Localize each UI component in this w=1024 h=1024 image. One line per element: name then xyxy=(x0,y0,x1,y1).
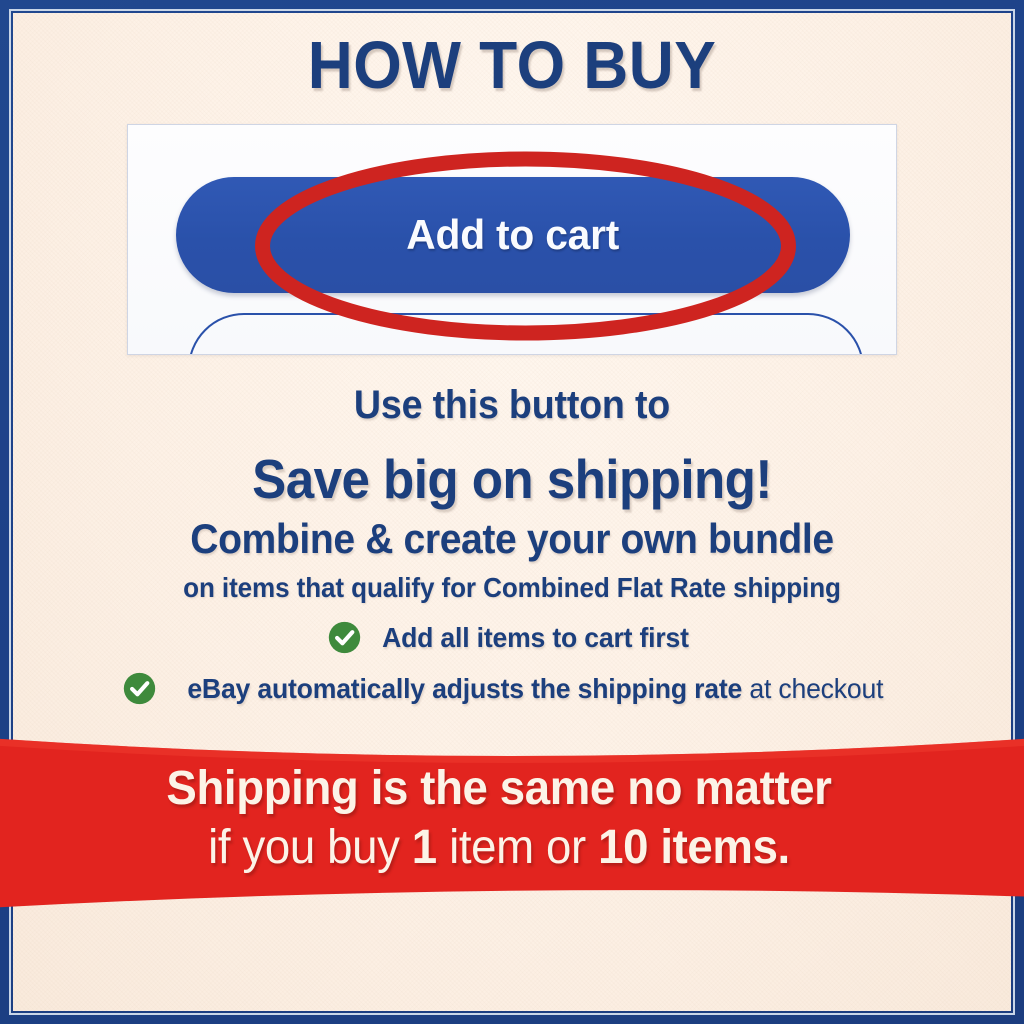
green-check-circle-icon xyxy=(328,621,361,654)
bullet-2-text-tail: at checkout xyxy=(742,673,883,704)
list-item-label: eBay automatically adjusts the shipping … xyxy=(187,674,883,703)
listing-panel-mock: Add to cart xyxy=(127,124,897,355)
copy-line-save: Save big on shipping! xyxy=(48,451,976,507)
page-title: HOW TO BUY xyxy=(48,32,976,99)
secondary-outlined-button[interactable] xyxy=(188,313,864,355)
list-item: Add all items to cart first xyxy=(13,621,1011,654)
green-check-circle-icon xyxy=(123,672,156,705)
bullet-2-text-strong: the shipping rate xyxy=(531,673,742,704)
list-item: eBay automatically adjusts the shipping … xyxy=(13,672,1011,705)
add-to-cart-button-label: Add to cart xyxy=(407,211,620,259)
shipping-banner: Shipping is the same no matter if you bu… xyxy=(0,712,1011,912)
copy-line-combine: Combine & create your own bundle xyxy=(48,517,976,561)
bullet-2-text-a: eBay automatically adjusts xyxy=(187,673,531,704)
bullet-1-text: Add all items to cart first xyxy=(382,622,689,653)
promo-graphic: HOW TO BUY Add to cart Use this button t… xyxy=(0,0,1024,1024)
copy-line-qualify: on items that qualify for Combined Flat … xyxy=(48,573,976,602)
copy-block: Use this button to Save big on shipping!… xyxy=(13,384,1011,603)
add-to-cart-button[interactable]: Add to cart xyxy=(176,177,850,293)
copy-line-use: Use this button to xyxy=(43,384,981,427)
bullet-list: Add all items to cart first eBay automat… xyxy=(13,621,1011,723)
list-item-label: Add all items to cart first xyxy=(382,623,689,652)
